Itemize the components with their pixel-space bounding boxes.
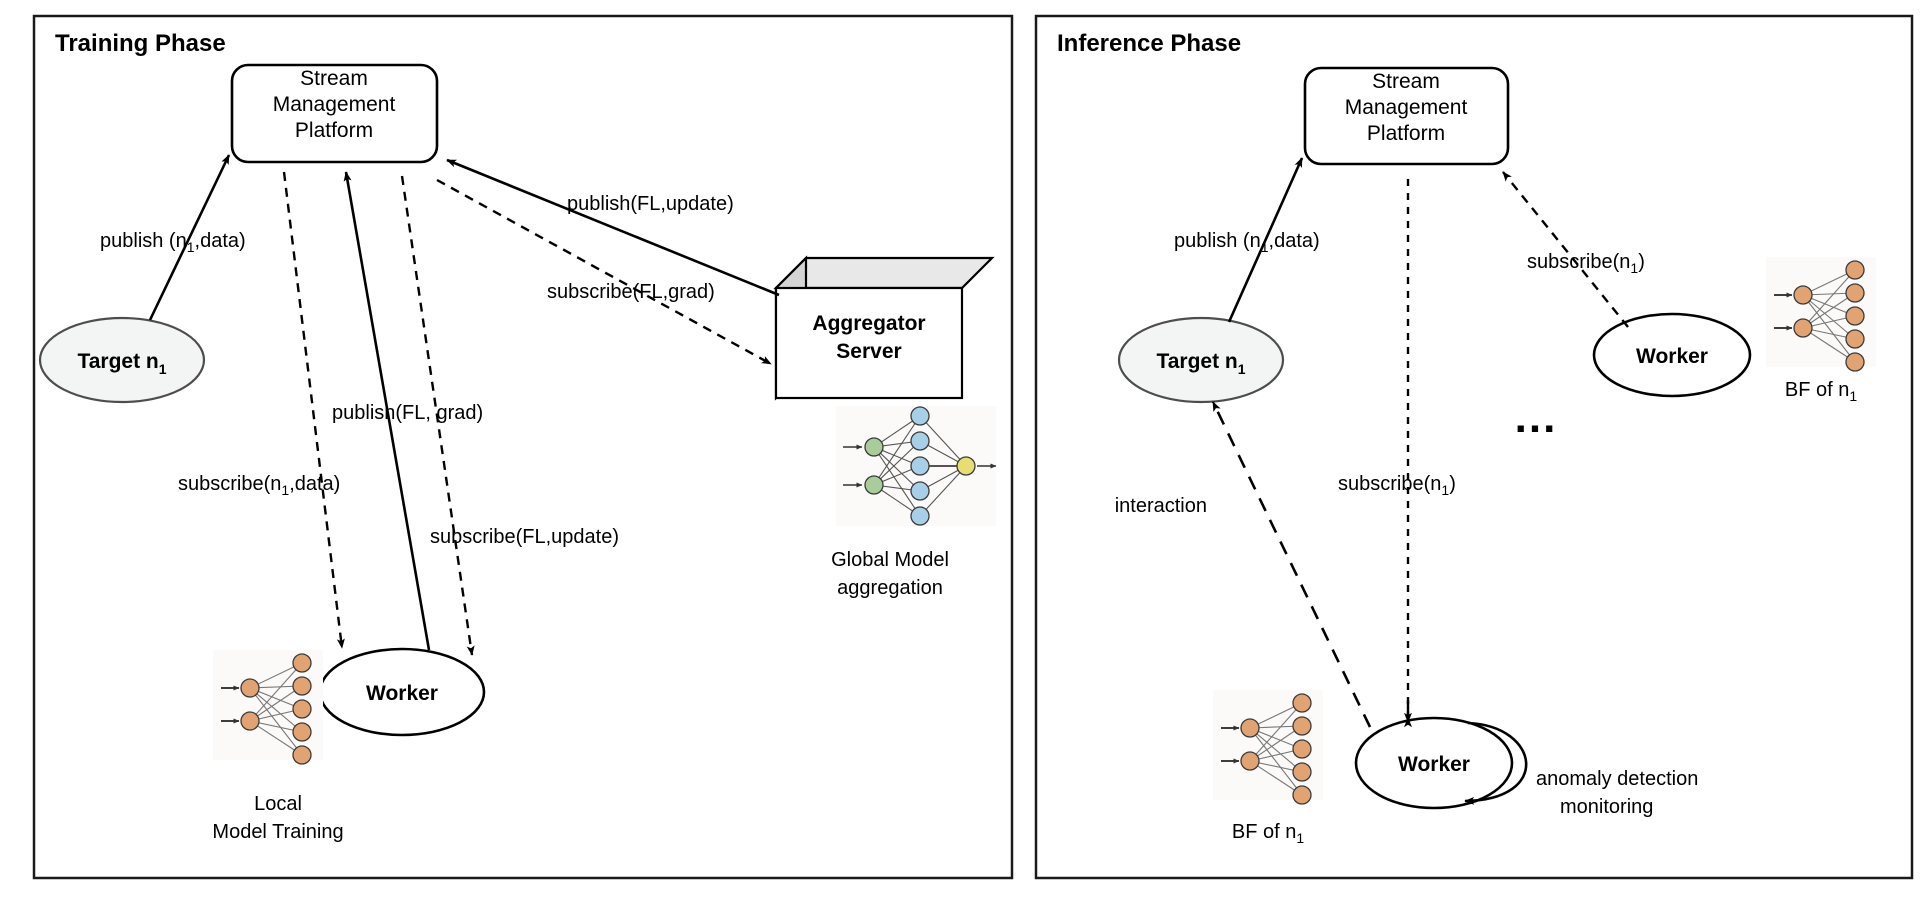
global-model-neural-net — [836, 406, 996, 526]
training-target-label: Target n1 — [77, 350, 166, 377]
edge-label-inference-publish-n1-data: publish (n1,data) — [1174, 230, 1320, 255]
inference-target-node[interactable]: Target n1 — [1119, 318, 1283, 402]
global-nn-output-node — [957, 457, 975, 475]
training-aggregator-node[interactable]: Aggregator Server — [776, 258, 992, 398]
bf-right-nn-output-node-2 — [1846, 284, 1864, 302]
training-smp-line-1: Stream — [300, 67, 368, 90]
global-model-caption-line-1: Global Model — [831, 549, 949, 571]
inference-smp-node[interactable]: Stream Management Platform — [1305, 68, 1508, 164]
aggregator-cube-top — [776, 258, 992, 288]
edge-label-anomaly-line-2: monitoring — [1560, 796, 1653, 818]
global-nn-input-node-2 — [865, 476, 883, 494]
bf-bottom-caption: BF of n1 — [1232, 821, 1304, 846]
training-smp-line-2: Management — [273, 93, 396, 116]
local-nn-output-node-5 — [293, 746, 311, 764]
diagram-root: Training Phase Stream Management Platfor… — [0, 0, 1929, 898]
bf-bottom-neural-net — [1213, 690, 1323, 804]
local-nn-output-node-4 — [293, 723, 311, 741]
bf-bottom-nn-input-node-2 — [1241, 752, 1259, 770]
edge-label-training-publish-fl-update: publish(FL,update) — [567, 193, 734, 215]
bf-bottom-nn-output-node-5 — [1293, 786, 1311, 804]
edge-label-training-subscribe-n1-data: subscribe(n1,data) — [178, 473, 340, 498]
bf-right-nn-output-node-5 — [1846, 353, 1864, 371]
training-smp-node[interactable]: Stream Management Platform — [232, 65, 437, 162]
global-nn-hidden-node-4 — [911, 482, 929, 500]
bf-right-nn-output-node-4 — [1846, 330, 1864, 348]
edge-label-training-subscribe-fl-update: subscribe(FL,update) — [430, 526, 619, 548]
panel-inference-title: Inference Phase — [1057, 30, 1241, 57]
global-nn-input-node-1 — [865, 438, 883, 456]
bf-bottom-nn-input-node-1 — [1241, 719, 1259, 737]
local-nn-output-node-1 — [293, 654, 311, 672]
local-nn-output-node-3 — [293, 700, 311, 718]
bf-right-nn-output-node-3 — [1846, 307, 1864, 325]
training-target-node[interactable]: Target n1 — [40, 318, 204, 402]
edge-label-training-publish-fl-grad: publish(FL, grad) — [332, 402, 483, 424]
edge-label-training-subscribe-fl-grad: subscribe(FL,grad) — [547, 281, 715, 303]
panel-training-title: Training Phase — [55, 30, 226, 57]
bf-bottom-nn-output-node-4 — [1293, 763, 1311, 781]
bf-right-neural-net — [1766, 257, 1876, 371]
local-model-caption-line-1: Local — [254, 793, 302, 815]
aggregator-label-line-1: Aggregator — [812, 312, 925, 335]
bf-bottom-nn-output-node-3 — [1293, 740, 1311, 758]
training-worker-label: Worker — [366, 682, 438, 705]
bf-bottom-nn-output-node-2 — [1293, 717, 1311, 735]
global-nn-hidden-node-3 — [911, 457, 929, 475]
local-nn-output-node-2 — [293, 677, 311, 695]
local-nn-input-node-2 — [241, 712, 259, 730]
bf-bottom-nn-output-node-1 — [1293, 694, 1311, 712]
edge-label-inference-subscribe-n1-bottom: subscribe(n1) — [1338, 473, 1456, 498]
inference-smp-line-3: Platform — [1367, 122, 1445, 145]
edge-label-training-publish-n1-data: publish (n1,data) — [100, 230, 246, 255]
inference-smp-line-2: Management — [1345, 96, 1468, 119]
inference-worker-bottom-label: Worker — [1398, 753, 1470, 776]
global-model-caption-line-2: aggregation — [837, 577, 943, 599]
bf-right-nn-input-node-1 — [1794, 286, 1812, 304]
local-model-neural-net — [213, 650, 323, 764]
inference-worker-right-node[interactable]: Worker — [1594, 314, 1750, 396]
bf-right-nn-input-node-2 — [1794, 319, 1812, 337]
training-smp-line-3: Platform — [295, 119, 373, 142]
inference-worker-right-label: Worker — [1636, 345, 1708, 368]
inference-target-label: Target n1 — [1156, 350, 1245, 377]
local-nn-input-node-1 — [241, 679, 259, 697]
global-nn-hidden-node-1 — [911, 407, 929, 425]
bf-right-caption: BF of n1 — [1785, 379, 1857, 404]
global-nn-hidden-node-5 — [911, 507, 929, 525]
inference-ellipsis: ... — [1515, 393, 1558, 442]
edge-label-anomaly-line-1: anomaly detection — [1536, 768, 1698, 790]
edge-label-inference-interaction: interaction — [1115, 495, 1207, 517]
inference-worker-bottom-node[interactable]: Worker — [1356, 718, 1512, 808]
global-nn-hidden-node-2 — [911, 432, 929, 450]
inference-smp-line-1: Stream — [1372, 70, 1440, 93]
training-worker-node[interactable]: Worker — [320, 649, 484, 735]
aggregator-label-line-2: Server — [836, 340, 901, 363]
local-model-caption-line-2: Model Training — [212, 821, 343, 843]
edge-label-inference-subscribe-n1-right: subscribe(n1) — [1527, 251, 1645, 276]
bf-right-nn-output-node-1 — [1846, 261, 1864, 279]
